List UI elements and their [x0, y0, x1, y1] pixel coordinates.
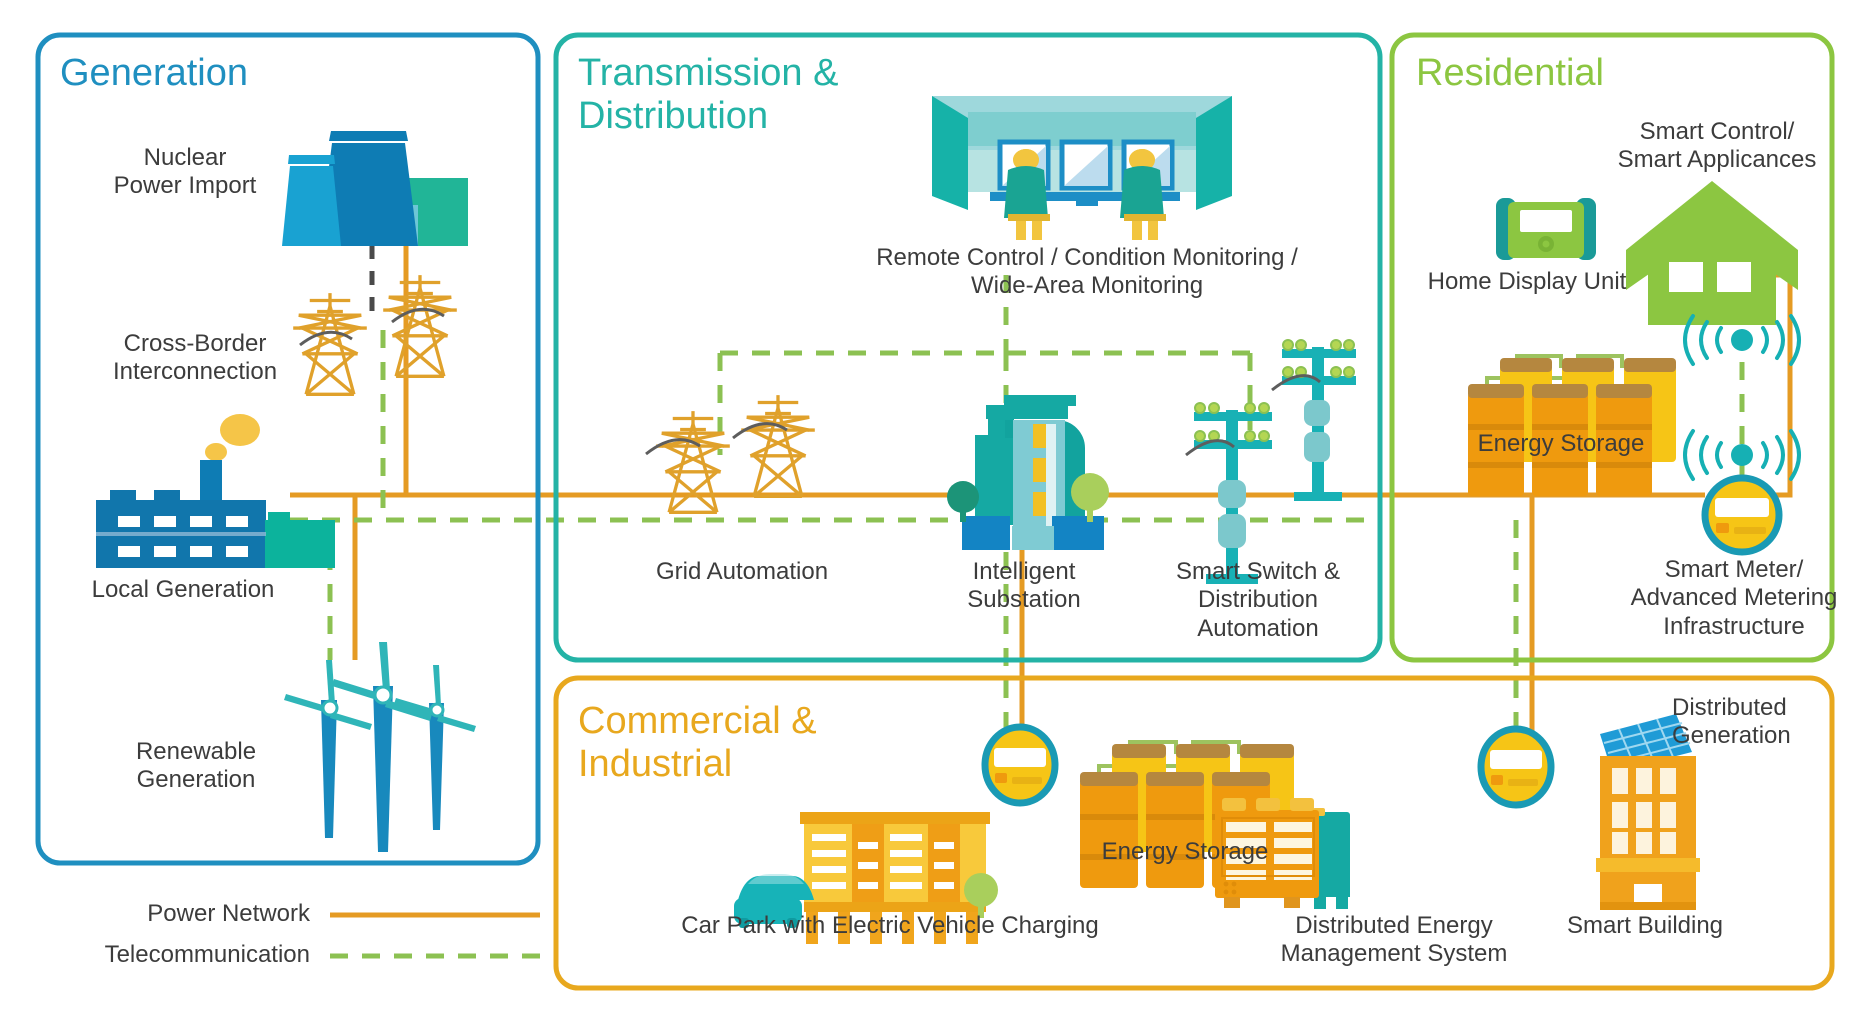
nuclear-plant-icon	[282, 131, 468, 246]
transmission-towers-icon	[293, 275, 457, 394]
panel-title-residential: Residential	[1416, 52, 1604, 95]
wireless-signal-icon-lower	[1685, 431, 1799, 479]
battery-bank-icon-residential	[1468, 356, 1676, 496]
power-plant-icon	[96, 414, 335, 568]
legend-swatches	[330, 915, 540, 956]
smart-meter-icon-residential[interactable]	[1705, 478, 1779, 552]
panel-title-transmission: Transmission & Distribution	[578, 52, 838, 139]
distribution-poles-icon	[1186, 340, 1356, 584]
panel-title-commercial: Commercial & Industrial	[578, 700, 817, 787]
label-renewable-generation: Renewable Generation	[96, 738, 296, 795]
legend-label-telecommunication: Telecommunication	[40, 941, 310, 969]
label-distributed-generation: Distributed Generation	[1672, 694, 1868, 751]
label-home-display-unit: Home Display Unit	[1406, 268, 1648, 296]
substation-icon	[947, 395, 1109, 550]
label-nuclear-power-import: Nuclear Power Import	[70, 144, 300, 201]
label-car-park-ev-charging: Car Park with Electric Vehicle Charging	[620, 912, 1160, 940]
label-local-generation: Local Generation	[62, 576, 304, 604]
label-smart-meter-ami: Smart Meter/ Advanced Metering Infrastru…	[1600, 556, 1868, 641]
label-intelligent-substation: Intelligent Substation	[934, 558, 1114, 615]
label-smart-control-appliances: Smart Control/ Smart Applicances	[1572, 118, 1862, 175]
panel-title-generation: Generation	[60, 52, 248, 95]
display-unit-icon	[1496, 198, 1596, 260]
infographic-canvas: Generation Transmission & Distribution R…	[0, 0, 1868, 1020]
grid-automation-towers-icon	[646, 395, 815, 512]
label-smart-switch-distribution-automation: Smart Switch & Distribution Automation	[1130, 558, 1386, 643]
label-energy-storage-commercial: Energy Storage	[1070, 838, 1300, 866]
label-grid-automation: Grid Automation	[612, 558, 872, 586]
label-cross-border-interconnection: Cross-Border Interconnection	[80, 330, 310, 387]
smart-meter-icon-commercial-left[interactable]	[985, 727, 1055, 803]
control-room-icon	[932, 96, 1232, 240]
label-smart-building: Smart Building	[1530, 912, 1760, 940]
label-remote-control-monitoring: Remote Control / Condition Monitoring / …	[790, 244, 1384, 301]
house-icon	[1626, 181, 1798, 325]
label-distributed-energy-management-system: Distributed Energy Management System	[1244, 912, 1544, 969]
legend-label-power-network: Power Network	[60, 900, 310, 928]
smart-meter-icon-commercial-right[interactable]	[1481, 729, 1551, 805]
label-energy-storage-residential: Energy Storage	[1446, 430, 1676, 458]
wind-turbines-icon	[284, 642, 476, 852]
